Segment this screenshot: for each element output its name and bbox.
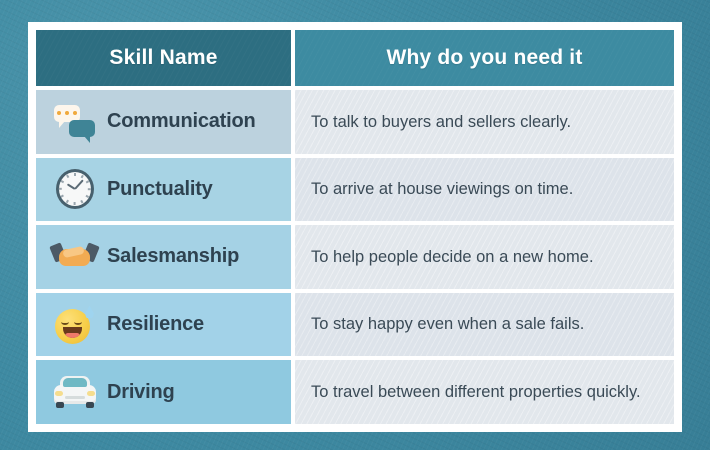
skill-label: Salesmanship	[107, 245, 239, 268]
clock-icon	[52, 166, 98, 212]
speech-bubbles-icon	[52, 99, 98, 145]
why-cell-driving: To travel between different properties q…	[295, 360, 674, 424]
table-row: Driving To travel between different prop…	[36, 360, 674, 424]
skill-cell-communication: Communication	[36, 90, 291, 154]
skill-cell-punctuality: Punctuality	[36, 158, 291, 222]
why-cell-salesmanship: To help people decide on a new home.	[295, 225, 674, 289]
column-header-skill-name: Skill Name	[36, 30, 291, 86]
table-row: Communication To talk to buyers and sell…	[36, 90, 674, 154]
sweat-smile-icon	[52, 302, 98, 348]
handshake-icon	[52, 234, 98, 280]
skill-cell-salesmanship: Salesmanship	[36, 225, 291, 289]
why-cell-resilience: To stay happy even when a sale fails.	[295, 293, 674, 357]
table-row: Salesmanship To help people decide on a …	[36, 225, 674, 289]
table-header-row: Skill Name Why do you need it	[36, 30, 674, 86]
skills-card: Skill Name Why do you need it Communicat…	[28, 22, 682, 432]
table-row: Punctuality To arrive at house viewings …	[36, 158, 674, 222]
why-cell-communication: To talk to buyers and sellers clearly.	[295, 90, 674, 154]
why-cell-punctuality: To arrive at house viewings on time.	[295, 158, 674, 222]
skill-label: Communication	[107, 110, 256, 133]
car-icon	[52, 369, 98, 415]
skills-table: Skill Name Why do you need it Communicat…	[32, 26, 678, 428]
skill-label: Driving	[107, 381, 175, 404]
table-row: Resilience To stay happy even when a sal…	[36, 293, 674, 357]
skill-cell-resilience: Resilience	[36, 293, 291, 357]
skill-cell-driving: Driving	[36, 360, 291, 424]
skill-label: Punctuality	[107, 178, 213, 201]
skill-label: Resilience	[107, 313, 204, 336]
column-header-why-need-it: Why do you need it	[295, 30, 674, 86]
